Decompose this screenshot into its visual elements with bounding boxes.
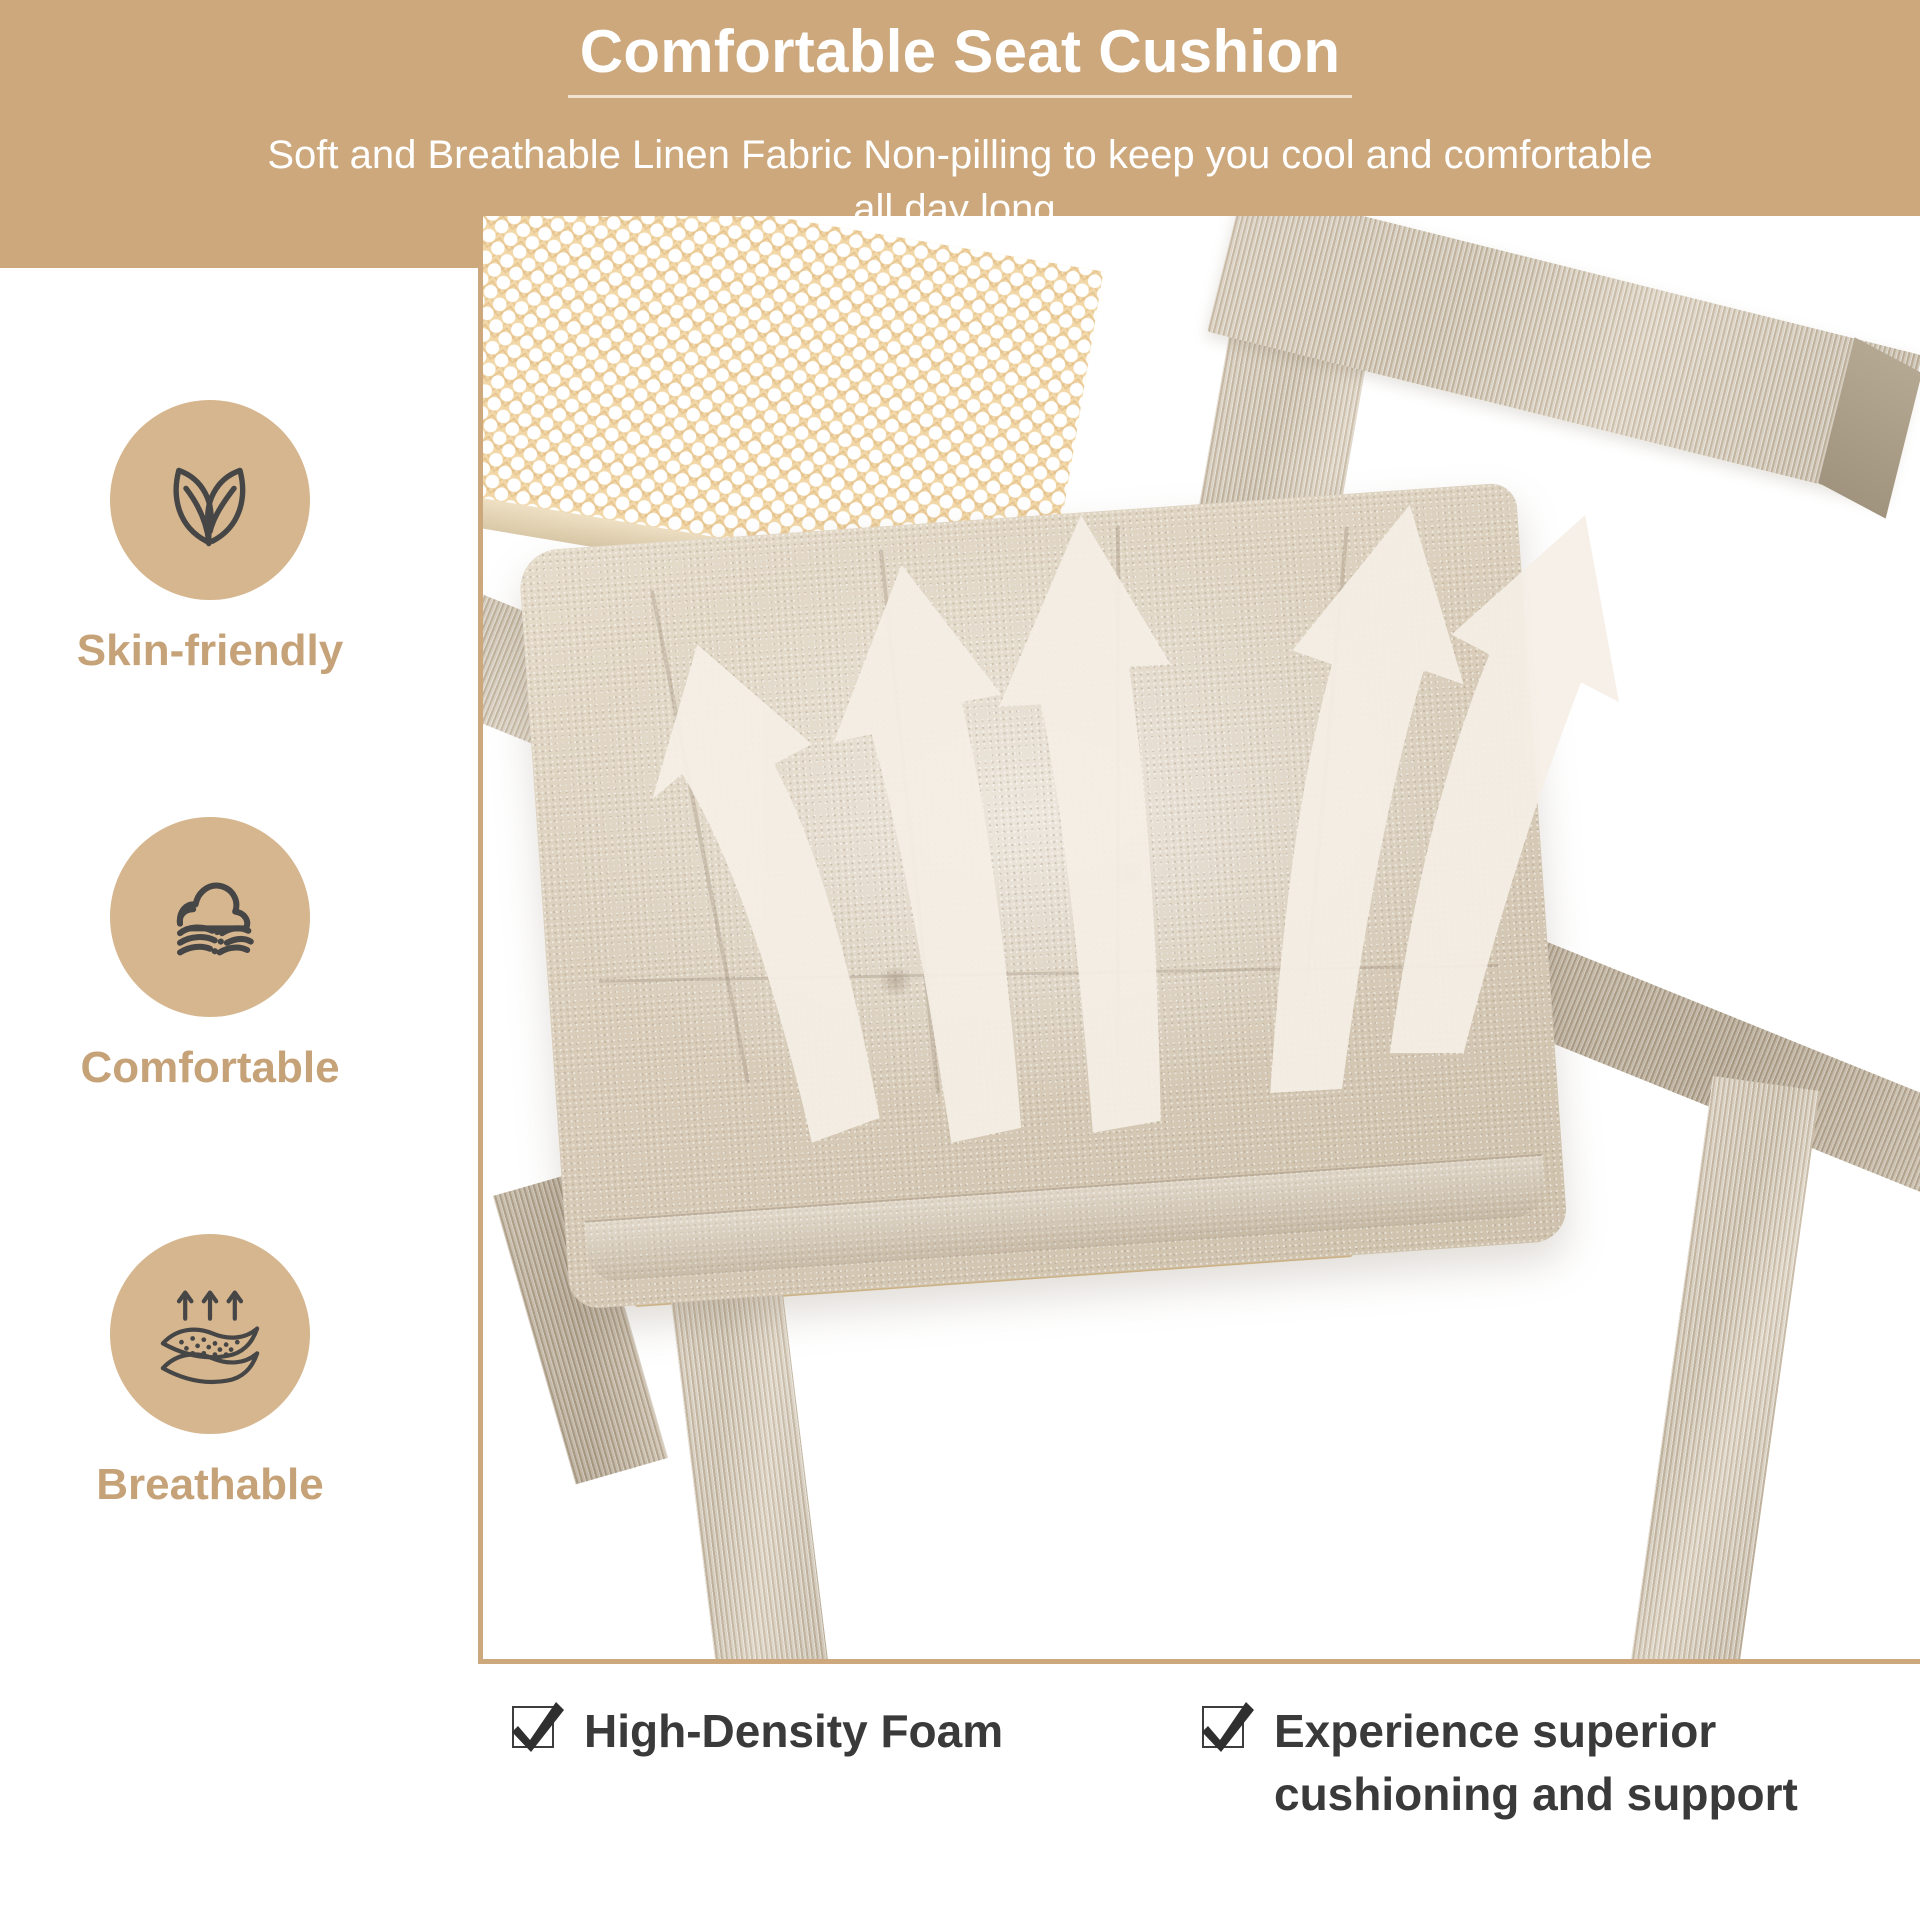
feature-list: Skin-friendly [0,300,420,1630]
page-title: Comfortable Seat Cushion [568,14,1353,98]
check-mark-icon [1200,1698,1256,1756]
feature-item-breathable: Breathable [96,1234,323,1510]
feature-icon-badge [110,1234,310,1434]
bottom-feature-label: Experience superior cushioning and suppo… [1274,1700,1862,1827]
cushion-seam [598,964,1498,983]
breathable-fabric-icon [148,1269,272,1398]
checkbox-checked-icon [512,1706,558,1752]
feature-icon-badge [110,400,310,600]
feature-label: Breathable [96,1460,323,1510]
cushion-tuft [878,966,914,998]
feature-item-skin-friendly: Skin-friendly [77,400,344,676]
check-mark-icon [510,1698,566,1756]
cushion-tuft [1111,858,1147,890]
product-photo [483,216,1920,1659]
feature-item-comfortable: Comfortable [80,817,339,1093]
leaf-icon [150,438,270,563]
bottom-feature-item: Experience superior cushioning and suppo… [1202,1668,1862,1827]
product-photo-frame [478,216,1920,1664]
cushion-seam [650,590,750,1083]
chair-leg-right [1627,1076,1820,1659]
cushion-welt-edge [585,1154,1547,1283]
bottom-feature-bar: High-Density Foam Experience superior cu… [0,1668,1920,1920]
bottom-feature-label: High-Density Foam [584,1700,1003,1763]
cushion-seam [879,549,940,1094]
armrest-end-face [1818,337,1920,518]
cloud-breeze-icon [150,854,270,979]
cushion-seam [1116,526,1120,1058]
feature-label: Skin-friendly [77,626,344,676]
cushion-seam [1304,527,1349,997]
seat-cushion [518,482,1569,1310]
feature-label: Comfortable [80,1043,339,1093]
feature-icon-badge [110,817,310,1017]
bottom-feature-item: High-Density Foam [512,1668,1152,1763]
checkbox-checked-icon [1202,1706,1248,1752]
